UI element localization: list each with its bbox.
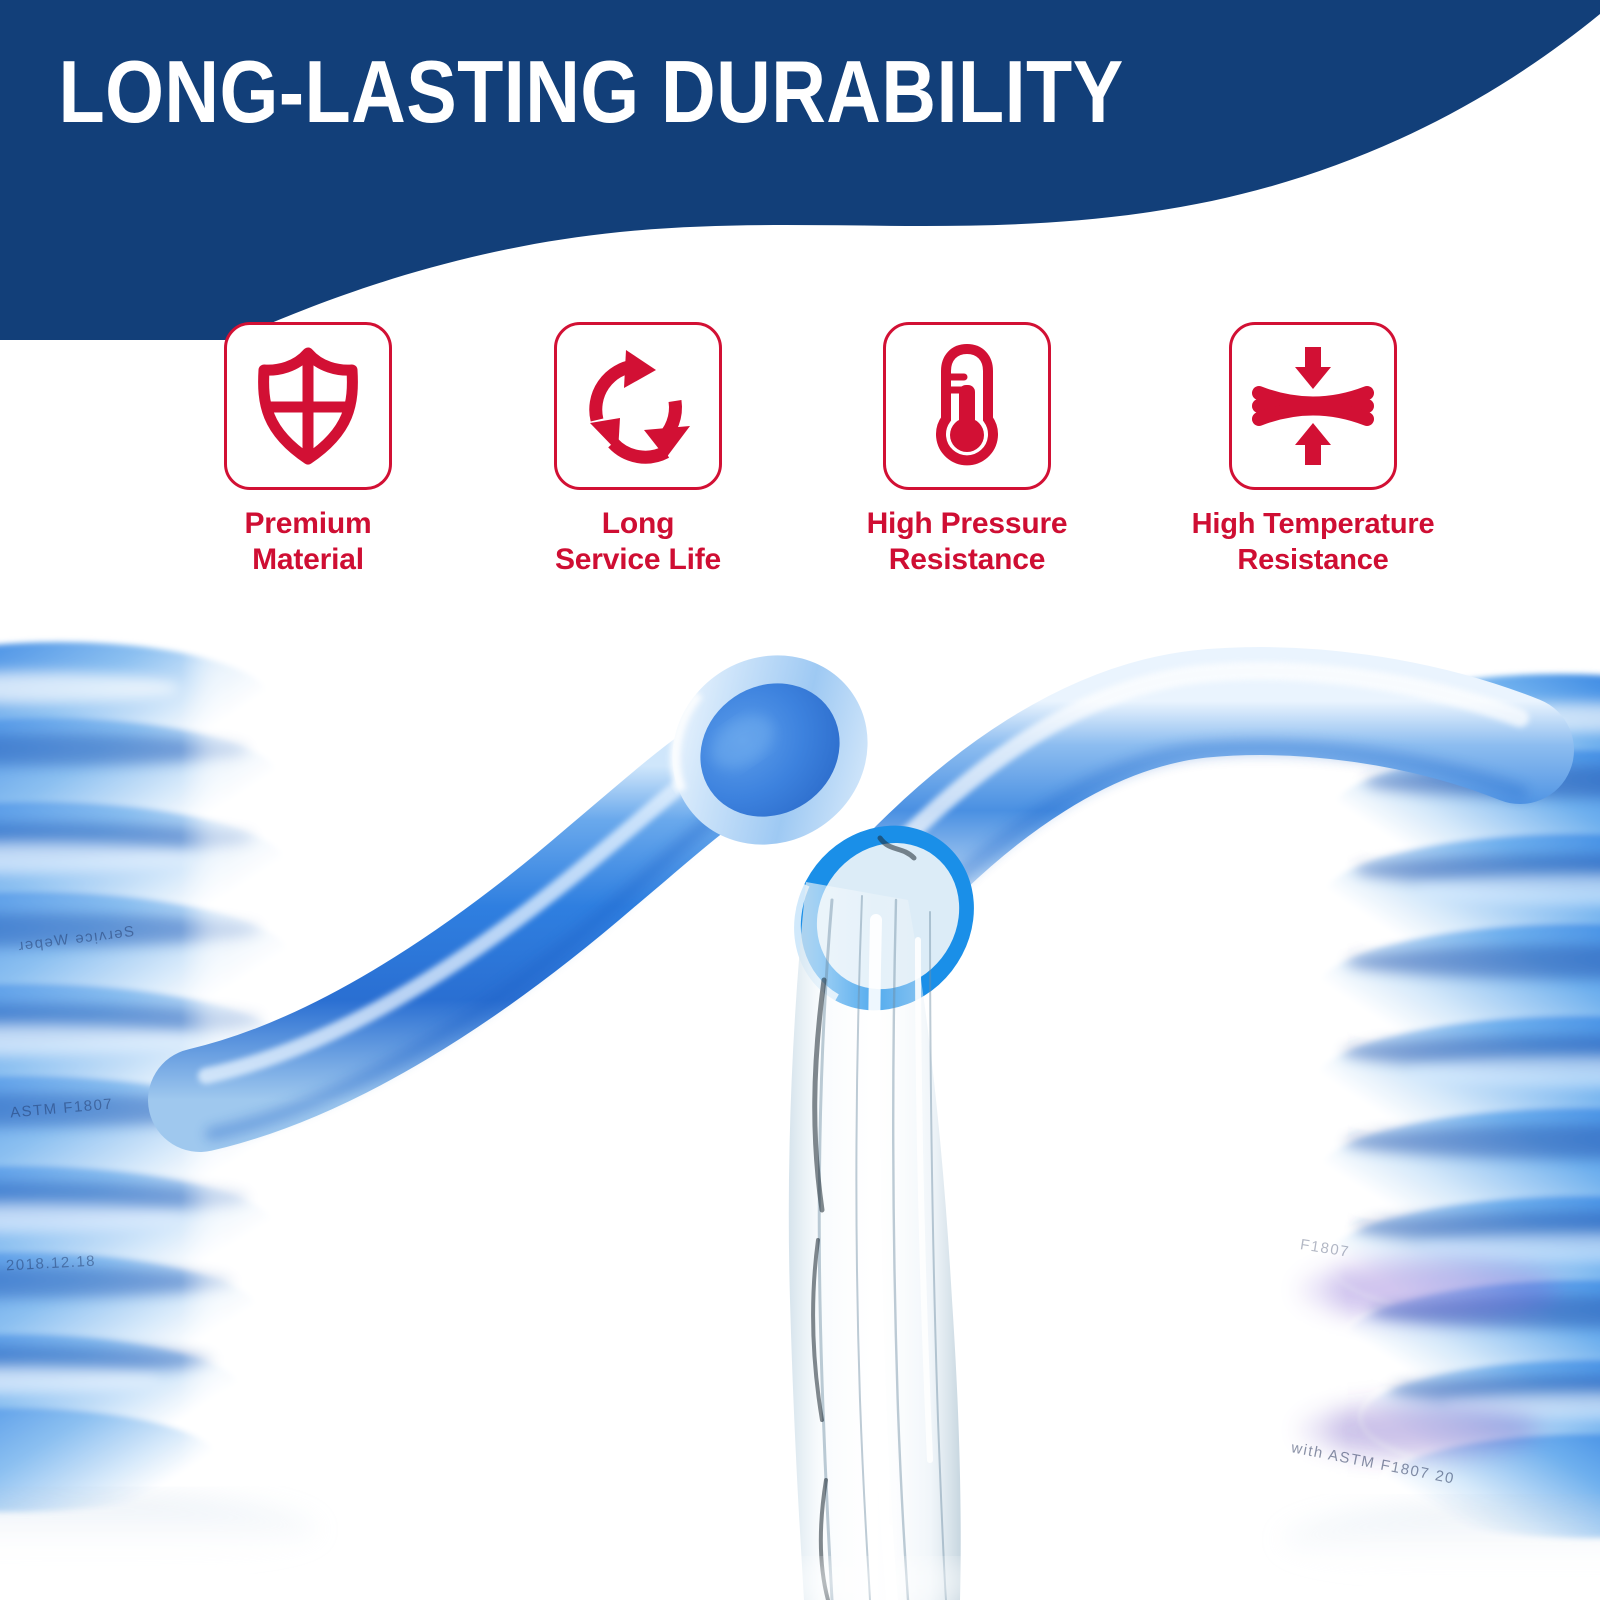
compression-arrows-icon — [1251, 345, 1375, 467]
feature-icon-box — [1229, 322, 1397, 490]
feature-row: Premium Material Long Service Life — [0, 300, 1600, 600]
page-title: LONG-LASTING DURABILITY — [0, 44, 1376, 140]
infographic-root: LONG-LASTING DURABILITY Premium Material — [0, 0, 1600, 1600]
feature-item-high-temperature-resistance[interactable]: High Temperature Resistance — [1163, 300, 1463, 578]
feature-label: High Temperature Resistance — [1163, 506, 1463, 578]
shield-icon — [252, 347, 364, 465]
feature-item-long-service-life[interactable]: Long Service Life — [488, 300, 788, 578]
feature-label: High Pressure Resistance — [817, 506, 1117, 578]
feature-item-premium-material[interactable]: Premium Material — [158, 300, 458, 578]
feature-icon-box — [224, 322, 392, 490]
thermometer-icon — [924, 343, 1010, 469]
product-photo: ɹǝqǝW ǝɔᴉʌɹǝS ASTM F1807 2018.12.18 with… — [0, 600, 1600, 1600]
feature-icon-box — [883, 322, 1051, 490]
header-banner: LONG-LASTING DURABILITY — [0, 0, 1600, 330]
feature-item-high-pressure-resistance[interactable]: High Pressure Resistance — [817, 300, 1117, 578]
recycle-arrows-icon — [580, 348, 696, 464]
feature-label: Long Service Life — [488, 506, 788, 578]
feature-label: Premium Material — [158, 506, 458, 578]
feature-icon-box — [554, 322, 722, 490]
hose-scene-illustration — [0, 600, 1600, 1600]
